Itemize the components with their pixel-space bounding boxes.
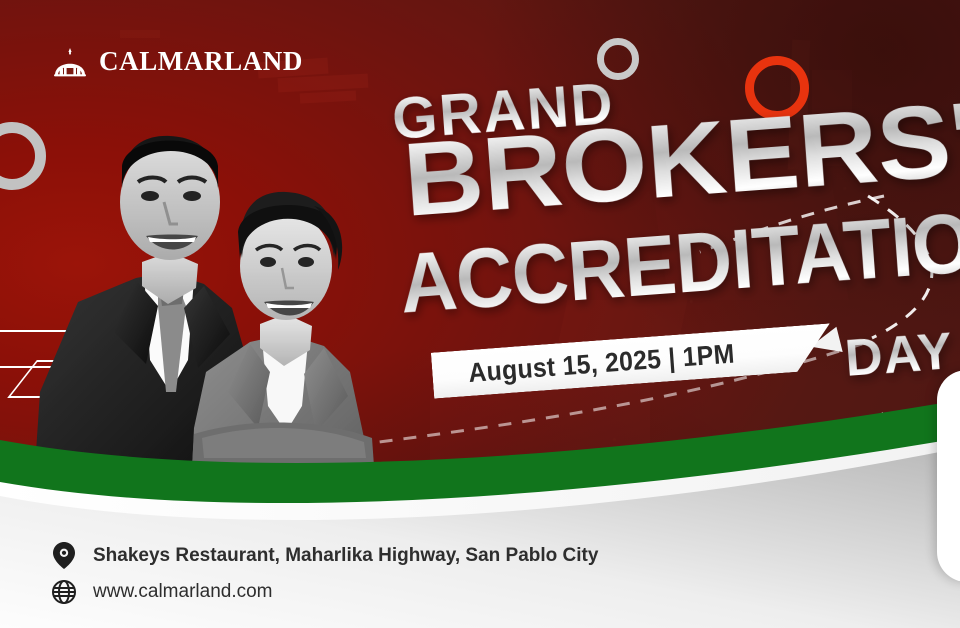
brand-logo: CALMARLAND [52, 46, 303, 77]
promotional-banner: GRAND BROKERS' ACCREDITATION DAY August … [0, 0, 960, 628]
footer-venue-row: Shakeys Restaurant, Maharlika Highway, S… [50, 542, 598, 569]
calmarland-building-logo-icon [52, 47, 88, 77]
venue-text: Shakeys Restaurant, Maharlika Highway, S… [93, 545, 598, 567]
footer: Shakeys Restaurant, Maharlika Highway, S… [0, 480, 960, 628]
footer-website-row[interactable]: www.calmarland.com [50, 578, 273, 605]
ring-red-outline-icon [745, 56, 809, 120]
ring-gray-small-icon [597, 38, 639, 80]
brand-name: CALMARLAND [99, 46, 303, 77]
globe-icon [50, 578, 77, 605]
right-edge-rounded-panel [937, 370, 960, 582]
location-pin-icon [50, 542, 77, 569]
website-text[interactable]: www.calmarland.com [93, 581, 273, 603]
